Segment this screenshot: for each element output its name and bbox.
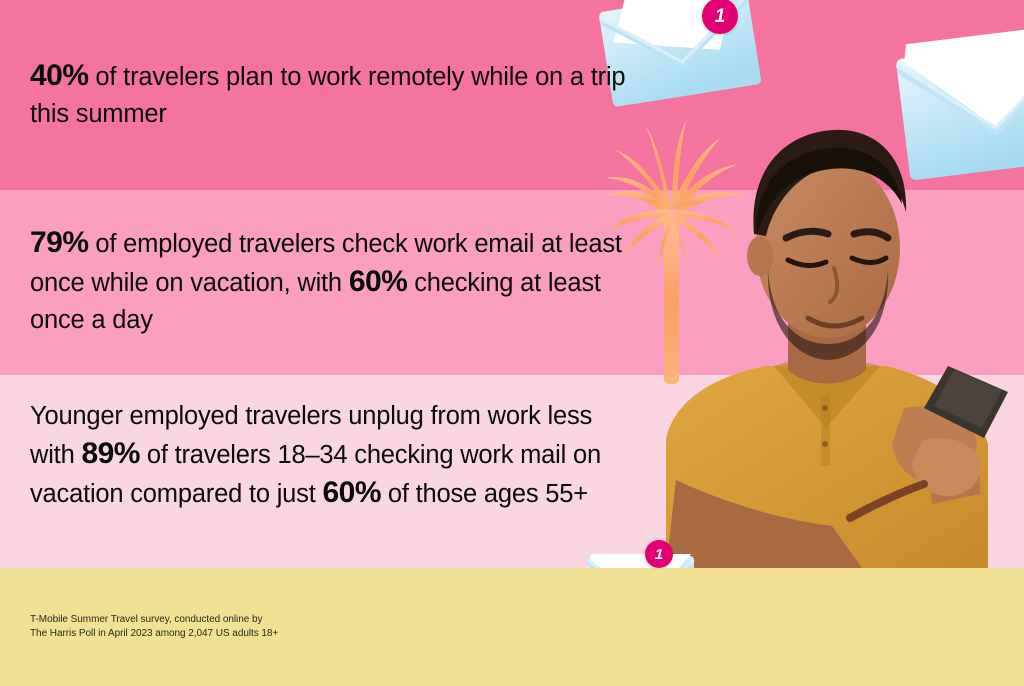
stat-2-highlight-2: 60% bbox=[349, 265, 408, 298]
footnote-line-2: The Harris Poll in April 2023 among 2,04… bbox=[30, 627, 278, 641]
stat-block-2: 79% of employed travelers check work ema… bbox=[30, 224, 630, 339]
infographic-canvas: 1 bbox=[0, 0, 1024, 686]
stat-1-highlight-1: 40% bbox=[30, 59, 89, 92]
stat-1-mid: of travelers plan to work remotely while… bbox=[30, 63, 625, 128]
stat-2-highlight-1: 79% bbox=[30, 226, 89, 259]
stat-3-highlight-2: 60% bbox=[322, 476, 381, 509]
stat-block-1: 40% of travelers plan to work remotely w… bbox=[30, 57, 630, 133]
stat-3-highlight-1: 89% bbox=[81, 437, 140, 470]
footnote-line-1: T-Mobile Summer Travel survey, conducted… bbox=[30, 613, 278, 627]
source-footnote: T-Mobile Summer Travel survey, conducted… bbox=[30, 613, 278, 640]
stat-block-3: Younger employed travelers unplug from w… bbox=[30, 398, 630, 513]
stat-3-post: of those ages 55+ bbox=[381, 480, 588, 508]
